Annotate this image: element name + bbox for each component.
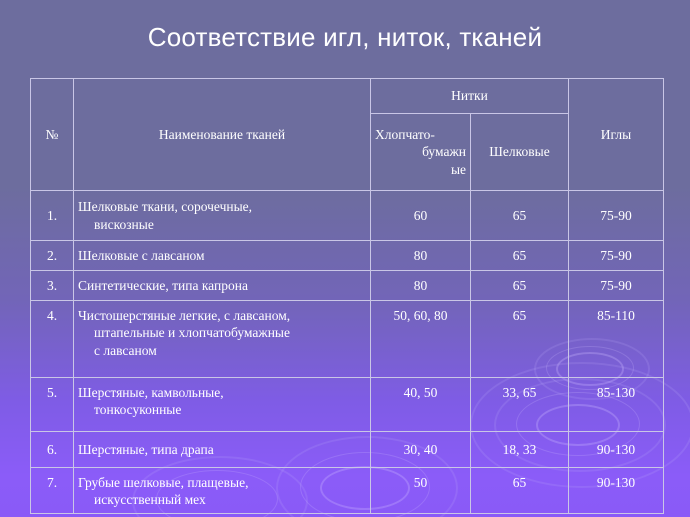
- row-silk-value: 65: [471, 191, 569, 241]
- row-silk-value: 65: [471, 301, 569, 378]
- table-row: 6. Шерстяные, типа драпа 30, 40 18, 33 9…: [31, 432, 664, 468]
- row-needle-value: 90-130: [569, 468, 664, 514]
- row-fabric-name-line2: тонкосуконные: [78, 401, 366, 418]
- row-cotton-value: 60: [371, 191, 471, 241]
- table-row: 7. Грубые шелковые, плащевые, искусствен…: [31, 468, 664, 514]
- row-fabric-name: Шелковые ткани, сорочечные, вискозные: [74, 191, 371, 241]
- table-row: 2. Шелковые с лавсаном 80 65 75-90: [31, 241, 664, 271]
- header-cotton-line1: Хлопчато-: [375, 126, 466, 143]
- fabric-needle-thread-table: № Наименование тканей Нитки Иглы Хлопчат…: [30, 78, 663, 506]
- row-fabric-name: Грубые шелковые, плащевые, искусственный…: [74, 468, 371, 514]
- row-fabric-name-line3: с лавсаном: [78, 342, 366, 359]
- row-fabric-name: Синтетические, типа капрона: [74, 271, 371, 301]
- header-needles: Иглы: [569, 79, 664, 191]
- row-cotton-value: 30, 40: [371, 432, 471, 468]
- row-fabric-name-line1: Грубые шелковые, плащевые,: [78, 474, 366, 491]
- row-fabric-name: Шерстяные, типа драпа: [74, 432, 371, 468]
- row-needle-value: 75-90: [569, 271, 664, 301]
- row-fabric-name-line2: искусственный мех: [78, 491, 366, 508]
- table-row: 5. Шерстяные, камвольные, тонкосуконные …: [31, 378, 664, 432]
- row-fabric-name-line1: Шерстяные, камвольные,: [78, 384, 366, 401]
- row-cotton-value: 50: [371, 468, 471, 514]
- row-silk-value: 65: [471, 271, 569, 301]
- header-cotton-line3: ые: [375, 161, 466, 178]
- row-cotton-value: 80: [371, 241, 471, 271]
- row-silk-value: 18, 33: [471, 432, 569, 468]
- table-row: 4. Чистошерстяные легкие, с лавсаном, шт…: [31, 301, 664, 378]
- row-needle-value: 85-110: [569, 301, 664, 378]
- table-row: 1. Шелковые ткани, сорочечные, вискозные…: [31, 191, 664, 241]
- row-silk-value: 65: [471, 241, 569, 271]
- row-fabric-name-line1: Синтетические, типа капрона: [78, 277, 366, 294]
- row-fabric-name-line1: Чистошерстяные легкие, с лавсаном,: [78, 307, 366, 324]
- row-needle-value: 75-90: [569, 191, 664, 241]
- header-cotton-line2: бумажн: [375, 143, 466, 160]
- row-number: 3.: [31, 271, 74, 301]
- row-fabric-name: Чистошерстяные легкие, с лавсаном, штапе…: [74, 301, 371, 378]
- row-number: 2.: [31, 241, 74, 271]
- row-cotton-value: 40, 50: [371, 378, 471, 432]
- header-cotton-threads: Хлопчато- бумажн ые: [371, 114, 471, 191]
- row-needle-value: 75-90: [569, 241, 664, 271]
- row-silk-value: 65: [471, 468, 569, 514]
- row-cotton-value: 50, 60, 80: [371, 301, 471, 378]
- row-fabric-name-line1: Шелковые с лавсаном: [78, 247, 366, 264]
- row-number: 5.: [31, 378, 74, 432]
- table-grid: № Наименование тканей Нитки Иглы Хлопчат…: [30, 78, 664, 514]
- row-needle-value: 85-130: [569, 378, 664, 432]
- row-fabric-name: Шелковые с лавсаном: [74, 241, 371, 271]
- table-row: 3. Синтетические, типа капрона 80 65 75-…: [31, 271, 664, 301]
- row-number: 1.: [31, 191, 74, 241]
- row-number: 6.: [31, 432, 74, 468]
- header-fabric-name: Наименование тканей: [74, 79, 371, 191]
- row-fabric-name-line1: Шелковые ткани, сорочечные,: [78, 198, 366, 215]
- row-fabric-name-line2: вискозные: [78, 216, 366, 233]
- header-number: №: [31, 79, 74, 191]
- row-number: 4.: [31, 301, 74, 378]
- row-needle-value: 90-130: [569, 432, 664, 468]
- row-fabric-name-line2: штапельные и хлопчатобумажные: [78, 324, 366, 341]
- header-threads-group: Нитки: [371, 79, 569, 114]
- header-silk-threads: Шелковые: [471, 114, 569, 191]
- row-fabric-name: Шерстяные, камвольные, тонкосуконные: [74, 378, 371, 432]
- row-number: 7.: [31, 468, 74, 514]
- row-fabric-name-line1: Шерстяные, типа драпа: [78, 441, 366, 458]
- table-header-row-1: № Наименование тканей Нитки Иглы: [31, 79, 664, 114]
- page-title: Соответствие игл, ниток, тканей: [0, 22, 690, 53]
- row-cotton-value: 80: [371, 271, 471, 301]
- slide-canvas: Соответствие игл, ниток, тканей № Наимен…: [0, 0, 690, 517]
- row-silk-value: 33, 65: [471, 378, 569, 432]
